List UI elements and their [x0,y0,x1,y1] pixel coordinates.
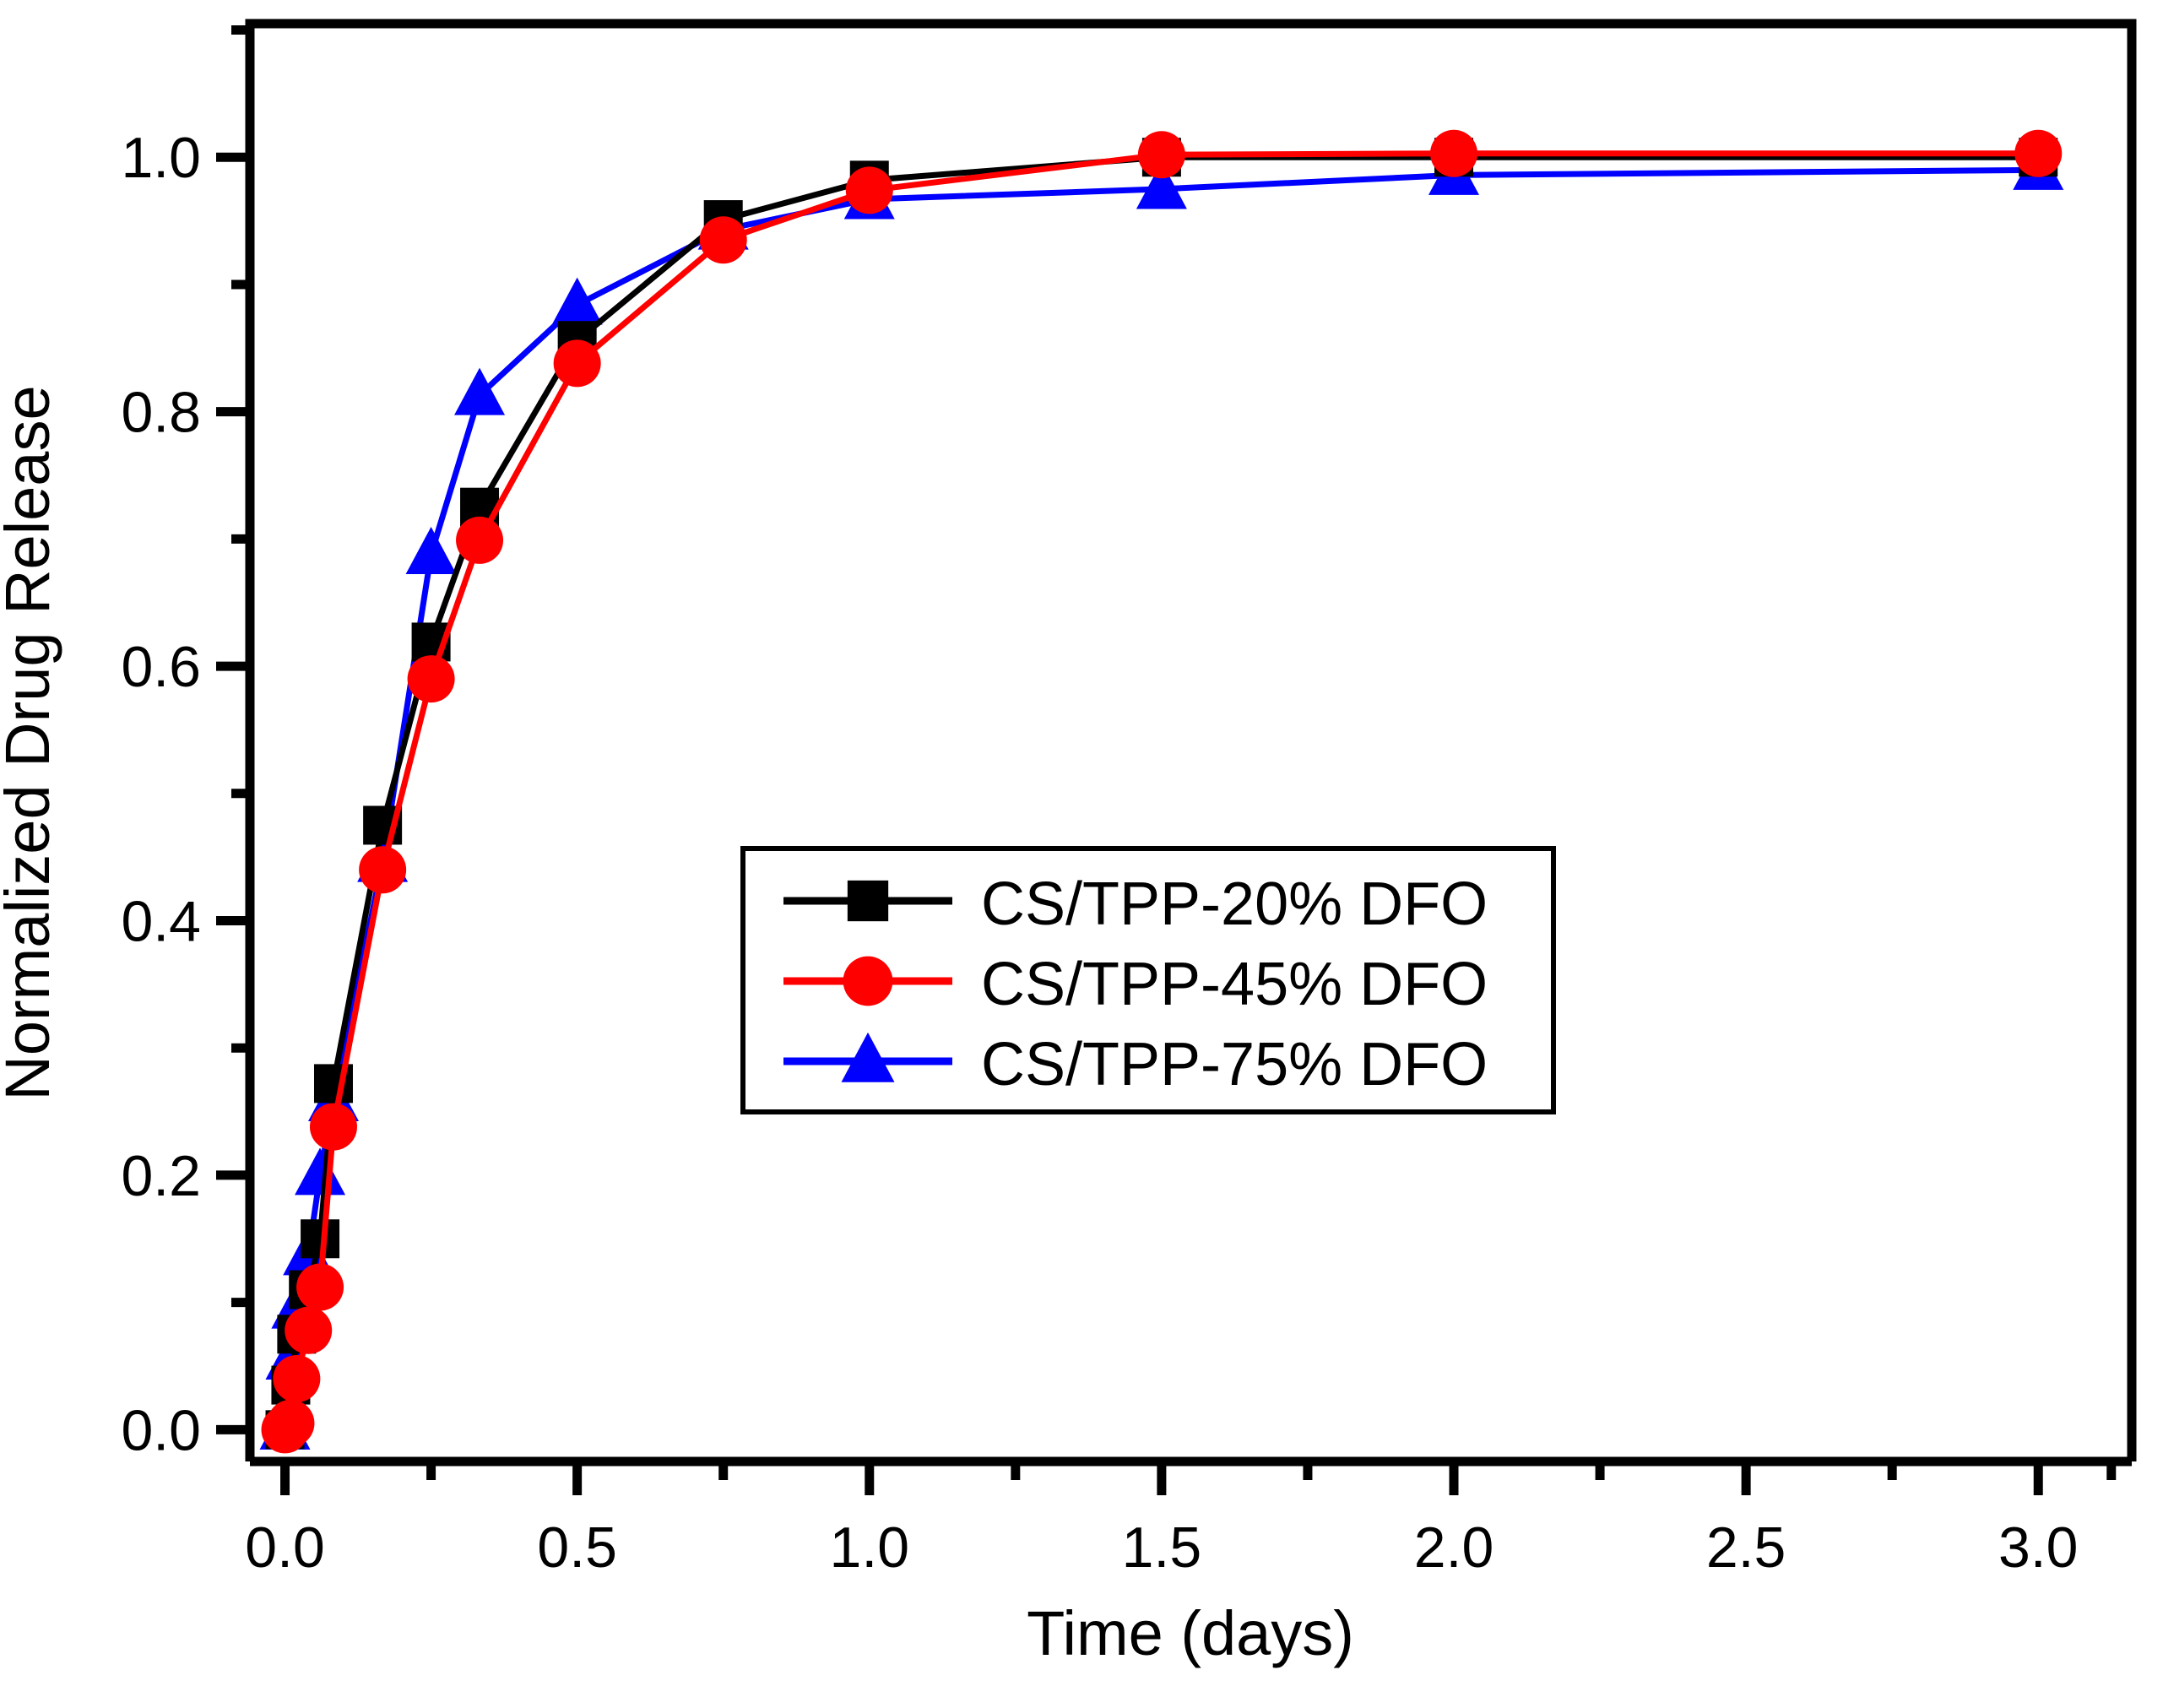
marker-circle [843,957,893,1006]
series-2 [262,130,2063,1454]
x-tick-label: 2.0 [1414,1516,1494,1580]
marker-circle [554,339,601,387]
legend-label: CS/TPP-45% DFO [981,951,1488,1018]
chart-legend: CS/TPP-20% DFOCS/TPP-45% DFOCS/TPP-75% D… [743,849,1553,1112]
x-tick-label: 1.0 [830,1516,910,1580]
series-1 [266,138,2058,1449]
legend-label: CS/TPP-75% DFO [981,1031,1488,1098]
marker-circle [1430,130,1477,177]
y-tick-label: 0.2 [121,1144,201,1208]
y-tick-label: 0.6 [121,635,201,699]
series-line [285,154,2039,1430]
series-line [285,157,2039,1429]
marker-circle [2014,130,2062,177]
y-tick-label: 0.0 [121,1398,201,1462]
y-tick-label: 0.8 [121,381,201,445]
marker-circle [456,517,503,564]
marker-circle [296,1264,344,1311]
marker-circle [700,216,747,263]
chart-canvas: 0.00.51.01.52.02.53.0 0.00.20.40.60.81.0… [0,0,2163,1708]
marker-circle [408,655,455,702]
series-line [285,170,2039,1429]
x-tick-label: 0.0 [245,1516,325,1580]
marker-triangle [406,527,457,574]
x-tick-label: 1.5 [1122,1516,1202,1580]
plot-frame [250,24,2132,1461]
marker-circle [273,1355,320,1402]
marker-triangle [295,1147,345,1195]
y-axis-ticks [216,30,250,1430]
drug-release-chart-figure: 0.00.51.01.52.02.53.0 0.00.20.40.60.81.0… [0,0,2163,1708]
series-3 [260,143,2064,1450]
y-axis-title: Normalized Drug Release [0,385,62,1100]
x-axis-ticks [285,1461,2111,1495]
x-axis-tick-labels: 0.00.51.01.52.02.53.0 [245,1516,2078,1580]
x-tick-label: 0.5 [537,1516,617,1580]
y-tick-label: 0.4 [121,889,201,953]
x-tick-label: 3.0 [1998,1516,2079,1580]
marker-circle [285,1307,332,1354]
x-tick-label: 2.5 [1706,1516,1786,1580]
frame-path [250,24,2132,1461]
x-axis-title: Time (days) [1027,1598,1354,1668]
marker-square [848,881,888,921]
marker-circle [310,1103,357,1151]
marker-circle [1138,131,1185,178]
legend-label: CS/TPP-20% DFO [981,870,1488,938]
y-axis-tick-labels: 0.00.20.40.60.81.0 [121,126,201,1462]
y-tick-label: 1.0 [121,126,201,190]
marker-circle [846,166,893,214]
marker-circle [267,1400,314,1447]
marker-circle [359,846,406,893]
data-series-group [260,130,2064,1454]
marker-triangle [552,278,603,325]
